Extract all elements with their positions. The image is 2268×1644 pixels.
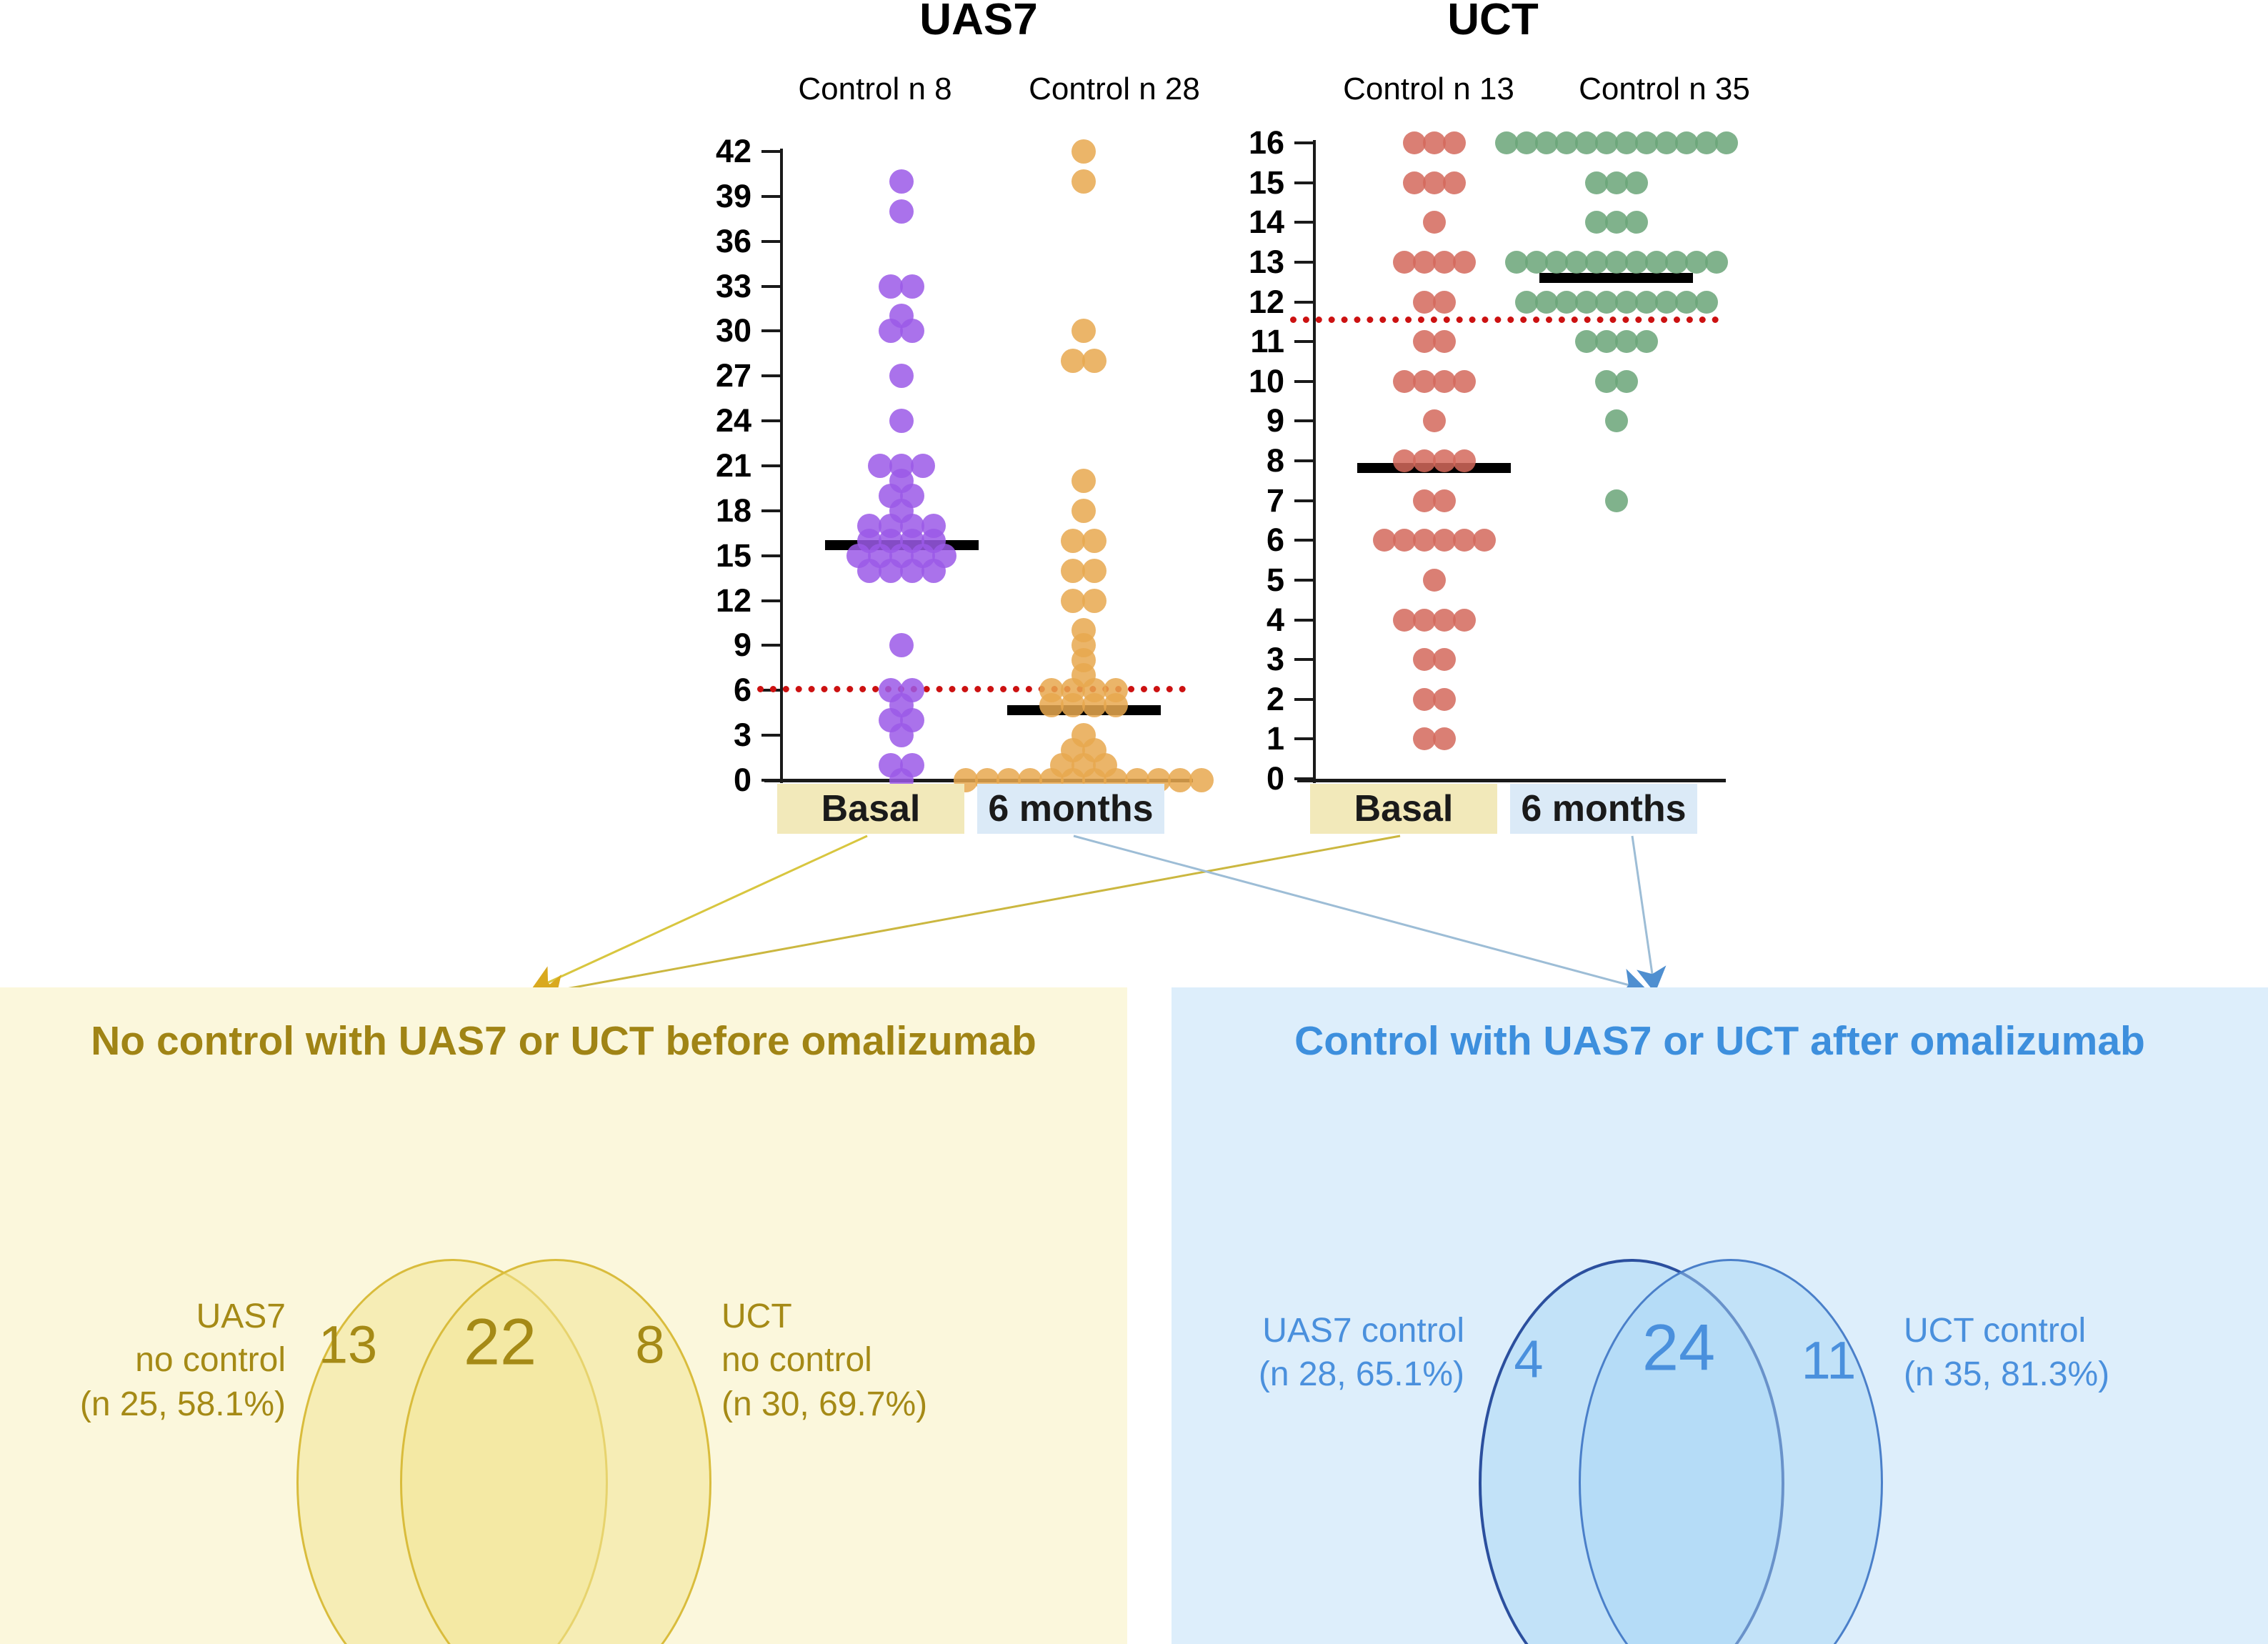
axis-tick-label: 12: [1163, 284, 1284, 321]
venn-panel-before: No control with UAS7 or UCT before omali…: [0, 987, 1127, 1644]
axis-tick-label: 8: [1163, 442, 1284, 479]
venn-after-uas7-label-line1: UAS7 control: [1214, 1309, 1464, 1352]
data-point: [1433, 688, 1456, 711]
venn-before-uas7-only-count: 13: [319, 1315, 377, 1375]
data-point: [1443, 171, 1466, 194]
axis-tick-label: 1: [1163, 720, 1284, 757]
axis-tick: [1294, 181, 1313, 184]
data-point: [1695, 291, 1718, 314]
axis-tick-label: 14: [1163, 204, 1284, 241]
venn-after-title: Control with UAS7 or UCT after omalizuma…: [1172, 1017, 2268, 1065]
data-point: [1433, 489, 1456, 512]
venn-before-uas7-label-line3: (n 25, 58.1%): [79, 1383, 286, 1426]
data-point: [1433, 291, 1456, 314]
axis-tick-label: 7: [1163, 482, 1284, 519]
data-point: [1423, 409, 1446, 432]
data-point: [1605, 489, 1628, 512]
uct-plot-area: 012345678910111213141516: [0, 0, 1786, 800]
axis-tick: [1294, 658, 1313, 661]
axis-tick-label: 0: [1163, 760, 1284, 797]
uct-6m-group-box: 6 months: [1510, 784, 1697, 834]
figure-root: UAS7 Control n 8 Control n 28 0369121518…: [0, 0, 2268, 1644]
data-point: [1453, 609, 1476, 632]
axis-tick-label: 16: [1163, 124, 1284, 161]
axis-tick-label: 11: [1163, 323, 1284, 360]
axis-tick: [1294, 221, 1313, 224]
axis-tick: [1294, 619, 1313, 622]
axis-tick-label: 4: [1163, 602, 1284, 639]
uct-x-axis: [1297, 779, 1726, 782]
data-point: [1453, 251, 1476, 274]
venn-before-uct-label-line3: (n 30, 69.7%): [721, 1383, 964, 1426]
data-point: [1443, 131, 1466, 154]
uct-y-axis: [1313, 140, 1316, 783]
axis-tick-label: 10: [1163, 363, 1284, 400]
axis-tick: [1294, 777, 1313, 780]
data-point: [1605, 409, 1628, 432]
axis-tick: [1294, 301, 1313, 304]
axis-tick-label: 15: [1163, 164, 1284, 201]
venn-before-uct-label: UCT no control (n 30, 69.7%): [721, 1295, 964, 1426]
data-point: [1615, 370, 1638, 393]
axis-tick-label: 2: [1163, 681, 1284, 718]
axis-tick: [1294, 698, 1313, 701]
uct-6m-median-line: [1539, 273, 1693, 283]
axis-tick-label: 6: [1163, 522, 1284, 559]
data-point: [1453, 370, 1476, 393]
venn-before-uct-only-count: 8: [635, 1315, 664, 1375]
data-point: [1625, 171, 1648, 194]
uct-6m-group-label: 6 months: [1521, 787, 1686, 830]
venn-panel-after: Control with UAS7 or UCT after omalizuma…: [1172, 987, 2268, 1644]
axis-tick-label: 13: [1163, 244, 1284, 281]
data-point: [1625, 211, 1648, 234]
axis-tick-label: 5: [1163, 562, 1284, 599]
axis-tick: [1294, 579, 1313, 582]
data-point: [1433, 727, 1456, 750]
data-point: [1715, 131, 1738, 154]
axis-tick: [1294, 459, 1313, 462]
axis-tick: [1294, 499, 1313, 502]
venn-before-title: No control with UAS7 or UCT before omali…: [0, 1017, 1127, 1065]
venn-after-intersection-count: 24: [1642, 1311, 1715, 1386]
venn-after-uct-label-line2: (n 35, 81.3%): [1904, 1352, 2154, 1396]
data-point: [1433, 330, 1456, 353]
axis-tick: [1294, 419, 1313, 422]
venn-after-uct-only-count: 11: [1802, 1330, 1857, 1391]
venn-before-uct-label-line1: UCT: [721, 1295, 964, 1338]
venn-after-uct-label: UCT control (n 35, 81.3%): [1904, 1309, 2154, 1397]
data-point: [1423, 211, 1446, 234]
uct-basal-group-label: Basal: [1354, 787, 1454, 830]
venn-after-uas7-label: UAS7 control (n 28, 65.1%): [1214, 1309, 1464, 1397]
venn-before-intersection-count: 22: [464, 1305, 536, 1380]
data-point: [1635, 330, 1658, 353]
venn-after-uas7-only-count: 4: [1514, 1329, 1543, 1390]
axis-tick: [1294, 261, 1313, 264]
venn-after-uct-label-line1: UCT control: [1904, 1309, 2154, 1352]
axis-tick: [1294, 380, 1313, 383]
axis-tick: [1294, 141, 1313, 144]
venn-after-uas7-label-line2: (n 28, 65.1%): [1214, 1352, 1464, 1396]
uct-basal-group-box: Basal: [1310, 784, 1497, 834]
axis-tick: [1294, 340, 1313, 343]
axis-tick-label: 3: [1163, 641, 1284, 678]
venn-before-uct-label-line2: no control: [721, 1338, 964, 1382]
data-point: [1453, 449, 1476, 472]
venn-before-uas7-label: UAS7 no control (n 25, 58.1%): [79, 1295, 286, 1426]
venn-before-uas7-label-line2: no control: [79, 1338, 286, 1382]
axis-tick-label: 9: [1163, 402, 1284, 439]
data-point: [1433, 648, 1456, 671]
venn-before-uas7-label-line1: UAS7: [79, 1295, 286, 1338]
data-point: [1473, 529, 1496, 552]
data-point: [1705, 251, 1728, 274]
axis-tick: [1294, 539, 1313, 542]
axis-tick: [1294, 737, 1313, 740]
data-point: [1423, 569, 1446, 592]
uct-threshold-line: [1290, 317, 1719, 323]
